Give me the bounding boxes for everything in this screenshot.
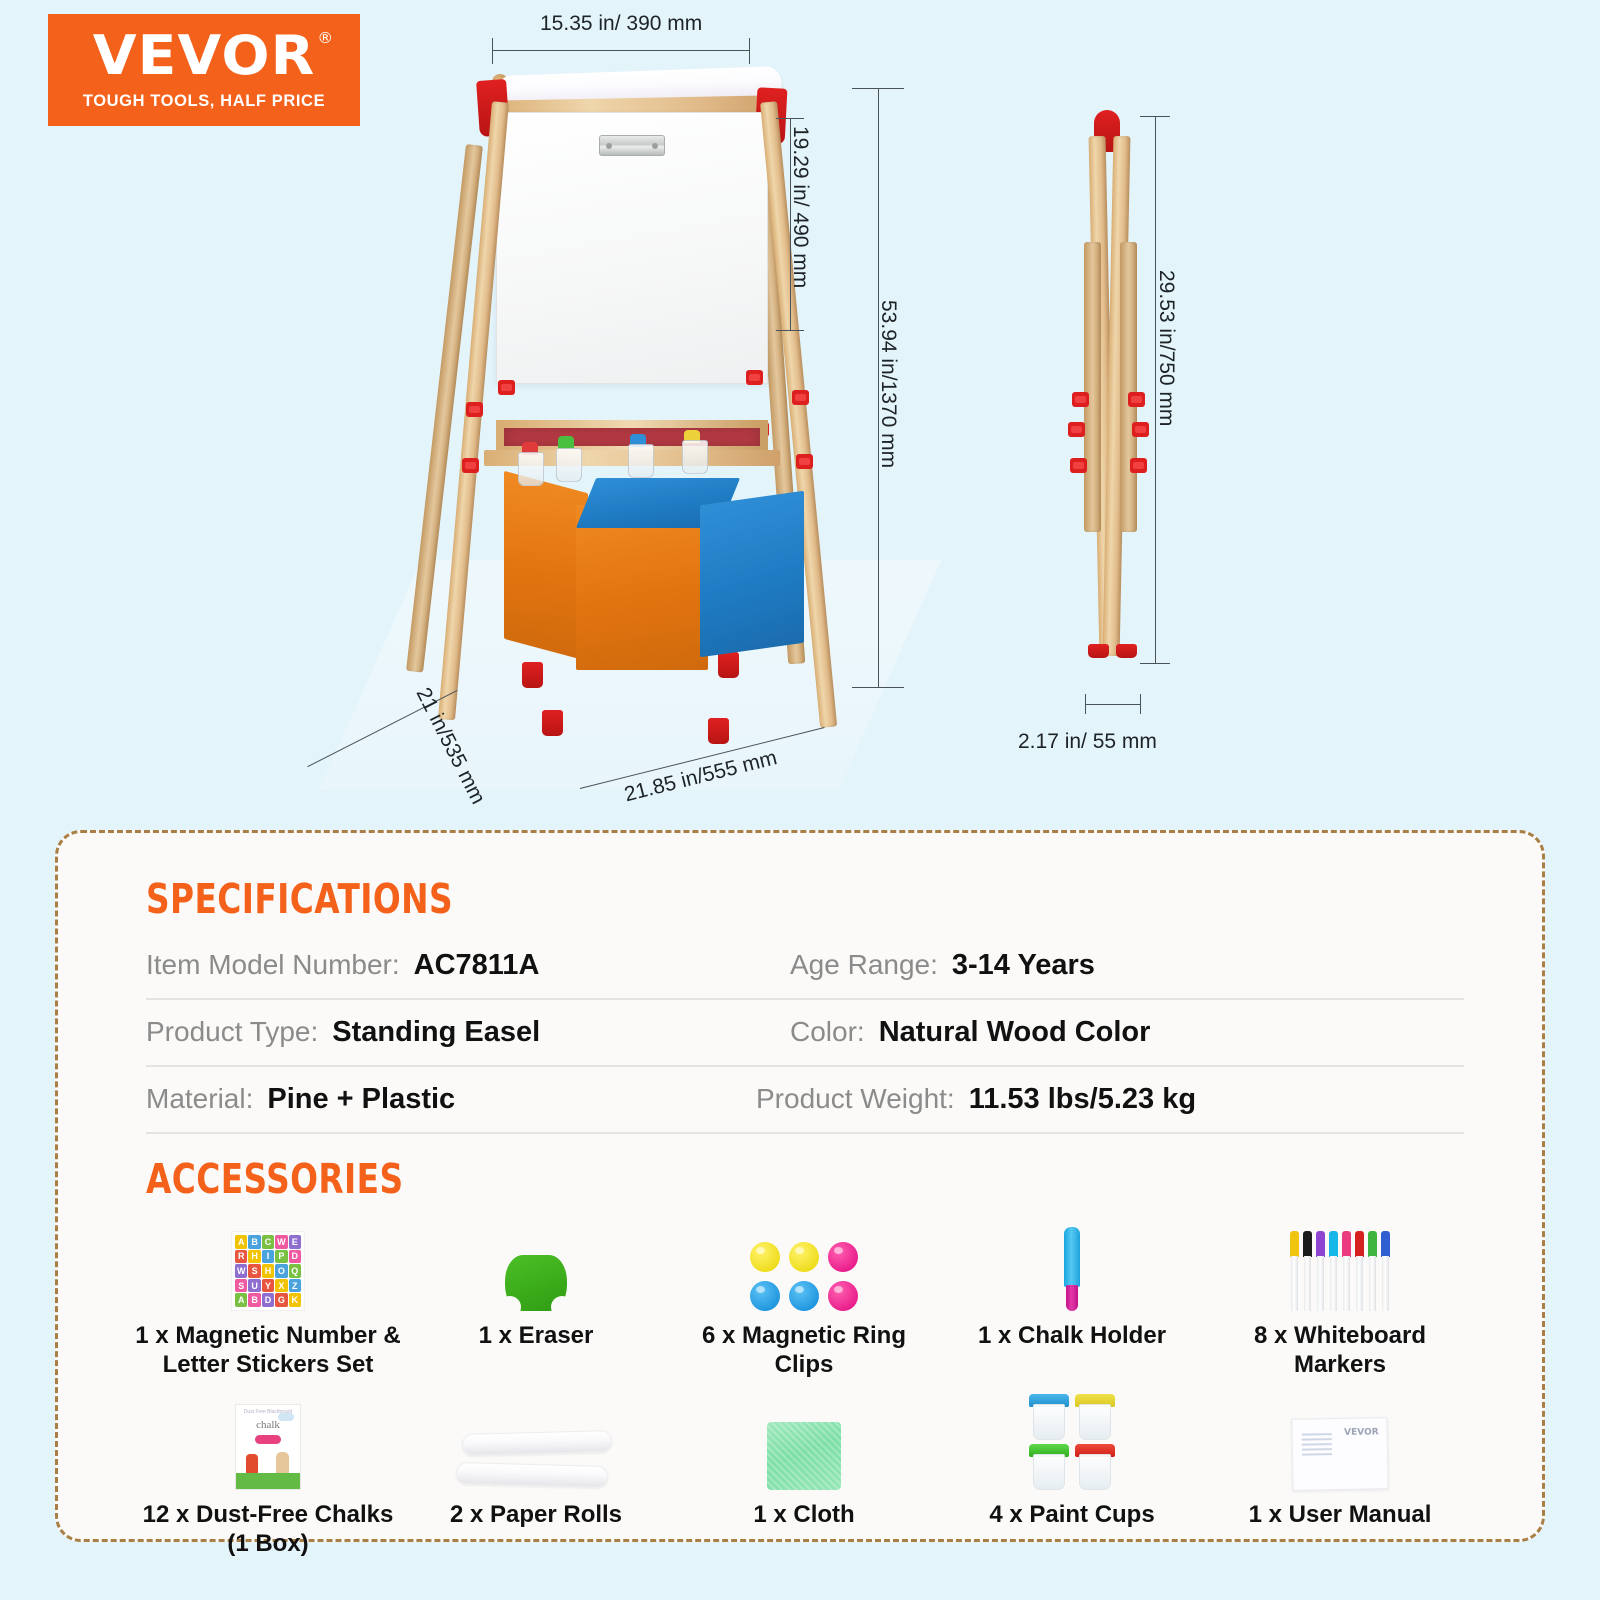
- dim-tick-bh-bot: [776, 330, 804, 331]
- accessory-label: 1 x Chalk Holder: [978, 1321, 1166, 1350]
- accessory-item: ABCWE RHIPD WSHOQ SUYXZ ABDGK 1 x Magnet…: [134, 1215, 402, 1380]
- spec-value-weight: 11.53 lbs/5.23 kg: [969, 1083, 1196, 1116]
- storage-bin-orange-front: [576, 505, 708, 670]
- magnetic-clips-art: [750, 1242, 858, 1311]
- spec-label-type: Product Type:: [146, 1016, 318, 1048]
- chalk-holder-tip: [1066, 1285, 1078, 1311]
- tray-cupbody-1: [518, 452, 544, 486]
- adjust-knob-1: [498, 380, 515, 395]
- spec-value-age: 3-14 Years: [952, 949, 1095, 982]
- user-manual-art: VEVOR: [1291, 1417, 1388, 1491]
- chalk-box-base: [236, 1473, 300, 1489]
- accessory-item: 2 x Paper Rolls: [402, 1394, 670, 1559]
- dim-tick-ft-right: [1140, 694, 1141, 714]
- dim-label-board-width: 15.35 in/ 390 mm: [540, 12, 702, 36]
- clip-yellow-1: [750, 1242, 780, 1272]
- easel-rear-foot-left: [522, 662, 543, 688]
- spec-row: Material: Pine + Plastic Product Weight:…: [146, 1067, 1464, 1134]
- accessory-item: VEVOR 1 x User Manual: [1206, 1394, 1474, 1559]
- cloth-icon: [767, 1394, 841, 1490]
- spec-cell-model: Item Model Number: AC7811A: [146, 949, 756, 982]
- accessories-grid: ABCWE RHIPD WSHOQ SUYXZ ABDGK 1 x Magnet…: [134, 1215, 1474, 1558]
- spec-value-model: AC7811A: [414, 949, 540, 982]
- accessory-item: 1 x Chalk Holder: [938, 1215, 1206, 1380]
- paper-roll-top: [462, 1430, 613, 1456]
- dim-label-folded-thickness: 2.17 in/ 55 mm: [1018, 730, 1157, 754]
- folded-knob-4: [1132, 422, 1149, 437]
- marker-pink: [1342, 1231, 1351, 1311]
- accessory-label: 8 x Whiteboard Markers: [1206, 1321, 1474, 1380]
- marker-red: [1355, 1231, 1364, 1311]
- info-panel: SPECIFICATIONS Item Model Number: AC7811…: [55, 830, 1545, 1542]
- whiteboard-panel: [496, 112, 768, 384]
- marker-blue: [1381, 1231, 1390, 1311]
- spec-value-color: Natural Wood Color: [879, 1016, 1151, 1049]
- spec-cell-color: Color: Natural Wood Color: [756, 1016, 1464, 1049]
- accessory-item: 1 x Eraser: [402, 1215, 670, 1380]
- chalk-box-badge: [255, 1435, 281, 1444]
- spec-row: Product Type: Standing Easel Color: Natu…: [146, 1000, 1464, 1067]
- accessory-label: 2 x Paper Rolls: [450, 1500, 622, 1529]
- chalk-box-title: chalk: [236, 1419, 300, 1431]
- dim-tick-bw-left: [492, 38, 493, 64]
- specifications-table: Item Model Number: AC7811A Age Range: 3-…: [146, 933, 1464, 1134]
- dim-tick-bw-right: [749, 38, 750, 64]
- paint-cups-icon: [1029, 1394, 1115, 1490]
- storage-bin-blue-front: [700, 491, 804, 658]
- easel-front-foot-right: [708, 718, 729, 744]
- eraser-icon: [505, 1215, 567, 1311]
- folded-foot-left: [1088, 644, 1109, 658]
- chalk-holder-barrel: [1064, 1227, 1080, 1287]
- chalk-box-icon: Dust Free Blackboard chalk: [235, 1394, 301, 1490]
- markers-art: [1290, 1231, 1390, 1311]
- accessory-item: 6 x Magnetic Ring Clips: [670, 1215, 938, 1380]
- spec-label-material: Material:: [146, 1083, 253, 1115]
- paper-rolls-art: [456, 1414, 616, 1490]
- accessory-item: 4 x Paint Cups: [938, 1394, 1206, 1559]
- folded-knob-3: [1068, 422, 1085, 437]
- easel-front-foot-left: [542, 710, 563, 736]
- infographic-page: VEVOR® TOUGH TOOLS, HALF PRICE: [0, 0, 1600, 1600]
- paint-cups-art: [1029, 1394, 1115, 1490]
- marker-cyan: [1329, 1231, 1338, 1311]
- accessory-tray: [480, 420, 780, 476]
- spec-cell-type: Product Type: Standing Easel: [146, 1016, 756, 1049]
- spec-row: Item Model Number: AC7811A Age Range: 3-…: [146, 933, 1464, 1000]
- marker-green: [1368, 1231, 1377, 1311]
- accessories-title: ACCESSORIES: [146, 1155, 403, 1203]
- spec-value-material: Pine + Plastic: [267, 1083, 455, 1116]
- tray-cupbody-3: [628, 444, 654, 478]
- spec-label-model: Item Model Number:: [146, 949, 400, 981]
- sticker-sheet-art: ABCWE RHIPD WSHOQ SUYXZ ABDGK: [231, 1231, 305, 1311]
- dim-tick-fh-bot: [1140, 663, 1170, 664]
- dim-tick-fh-top: [1140, 116, 1170, 117]
- accessory-label: 1 x Magnetic Number & Letter Stickers Se…: [135, 1321, 400, 1380]
- adjust-knob-7: [792, 390, 809, 405]
- adjust-knob-5: [746, 370, 763, 385]
- dim-tick-ft-left: [1085, 694, 1086, 714]
- spec-cell-weight: Product Weight: 11.53 lbs/5.23 kg: [756, 1083, 1464, 1116]
- adjust-knob-4: [462, 458, 479, 473]
- folded-foot-right: [1116, 644, 1137, 658]
- clip-blue-1: [750, 1281, 780, 1311]
- paper-clip-icon: [599, 135, 665, 156]
- chalk-holder-icon: [1064, 1215, 1080, 1311]
- accessory-item: Dust Free Blackboard chalk 12 x Dust-Fre…: [134, 1394, 402, 1559]
- spec-value-type: Standing Easel: [332, 1016, 540, 1049]
- adjust-knob-8: [796, 454, 813, 469]
- dim-line-folded-thickness: [1085, 704, 1141, 705]
- sticker-sheet-icon: ABCWE RHIPD WSHOQ SUYXZ ABDGK: [231, 1215, 305, 1311]
- adjust-knob-3: [466, 402, 483, 417]
- spec-label-weight: Product Weight:: [756, 1083, 955, 1115]
- accessory-label: 6 x Magnetic Ring Clips: [670, 1321, 938, 1380]
- accessory-label: 4 x Paint Cups: [989, 1500, 1154, 1529]
- user-manual-icon: VEVOR: [1292, 1394, 1388, 1490]
- spec-cell-age: Age Range: 3-14 Years: [756, 949, 1464, 982]
- dim-tick-bh-top: [776, 118, 804, 119]
- folded-leg-3: [1084, 242, 1101, 532]
- dim-label-folded-height: 29.53 in/750 mm: [1154, 270, 1178, 426]
- clip-pink-2: [828, 1281, 858, 1311]
- dim-label-board-height: 19.29 in/ 490 mm: [788, 126, 812, 288]
- accessory-label: 1 x User Manual: [1249, 1500, 1432, 1529]
- folded-leg-4: [1120, 242, 1137, 532]
- accessory-item: 8 x Whiteboard Markers: [1206, 1215, 1474, 1380]
- marker-purple: [1316, 1231, 1325, 1311]
- cloth-art: [767, 1422, 841, 1490]
- manual-logo: VEVOR: [1344, 1427, 1379, 1438]
- chalk-box-art: Dust Free Blackboard chalk: [235, 1404, 301, 1490]
- dim-tick-th-bot: [852, 687, 904, 688]
- paint-cup-blue: [1029, 1394, 1069, 1440]
- markers-icon: [1290, 1215, 1390, 1311]
- eraser-art: [505, 1255, 567, 1311]
- paint-cup-green: [1029, 1444, 1069, 1490]
- dim-tick-th-top: [852, 88, 904, 89]
- paper-rolls-icon: [456, 1394, 616, 1490]
- paper-roll-bottom: [456, 1462, 609, 1488]
- accessory-item: 1 x Cloth: [670, 1394, 938, 1559]
- spec-label-age: Age Range:: [790, 949, 938, 981]
- dim-line-board-width: [492, 50, 750, 51]
- folded-knob-6: [1130, 458, 1147, 473]
- clip-blue-2: [789, 1281, 819, 1311]
- tray-cupbody-4: [682, 440, 708, 474]
- paint-cup-red: [1075, 1444, 1115, 1490]
- paint-cup-yellow: [1075, 1394, 1115, 1440]
- marker-black: [1303, 1231, 1312, 1311]
- spec-cell-material: Material: Pine + Plastic: [146, 1083, 756, 1116]
- clip-yellow-2: [789, 1242, 819, 1272]
- easel-rear-foot-right: [718, 652, 739, 678]
- manual-text-lines: [1302, 1433, 1332, 1459]
- accessory-label: 1 x Cloth: [753, 1500, 854, 1529]
- accessory-label: 1 x Eraser: [479, 1321, 594, 1350]
- marker-yellow: [1290, 1231, 1299, 1311]
- chalk-holder-art: [1064, 1227, 1080, 1311]
- specifications-title: SPECIFICATIONS: [146, 875, 453, 923]
- tray-cupbody-2: [556, 448, 582, 482]
- product-diagram: 15.35 in/ 390 mm 19.29 in/ 490 mm 53.94 …: [0, 0, 1600, 820]
- dim-label-total-height: 53.94 in/1370 mm: [876, 300, 900, 468]
- folded-knob-2: [1128, 392, 1145, 407]
- spec-label-color: Color:: [790, 1016, 865, 1048]
- folded-knob-5: [1070, 458, 1087, 473]
- folded-knob-1: [1072, 392, 1089, 407]
- accessory-label: 12 x Dust-Free Chalks (1 Box): [134, 1500, 402, 1559]
- magnetic-clips-icon: [750, 1215, 858, 1311]
- clip-pink-1: [828, 1242, 858, 1272]
